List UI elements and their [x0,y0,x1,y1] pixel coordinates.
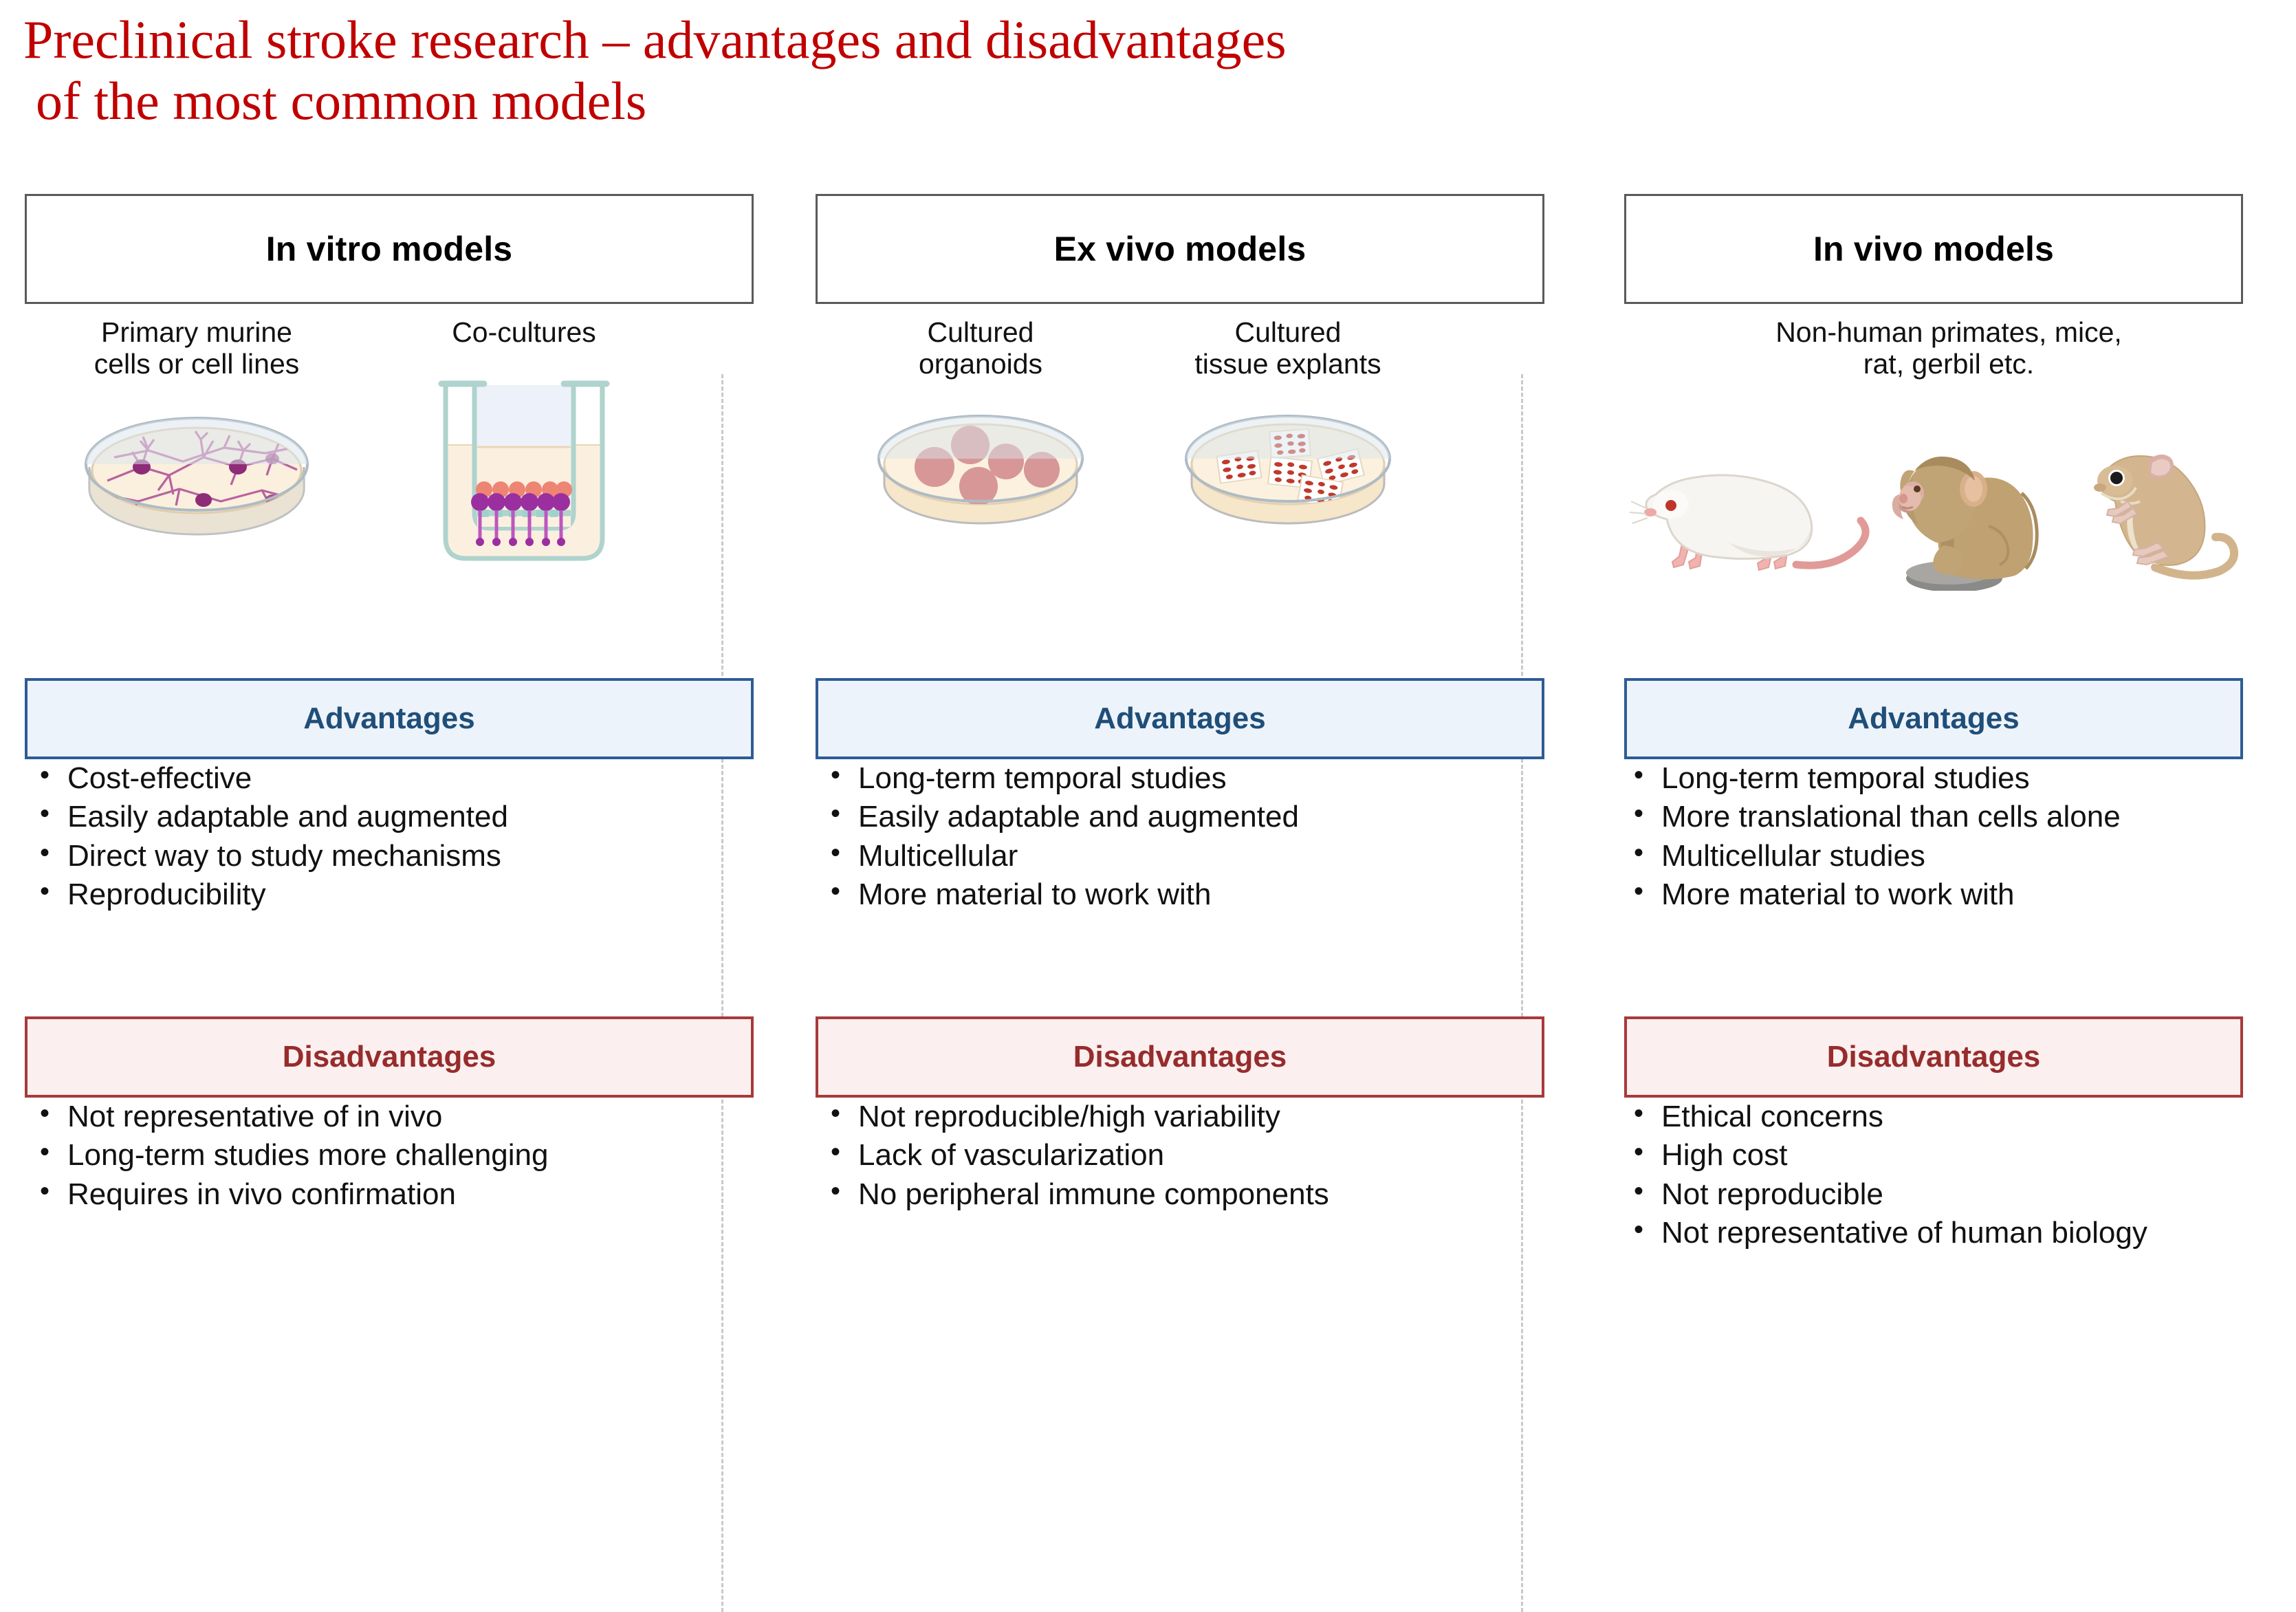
advantages-label: Advantages [1848,701,2019,736]
models-comparison-grid: In vitro models Primary murine cells or … [0,194,2296,1479]
illustration-tissue-explants: Cultured tissue explants [1126,316,1450,546]
list-item: More material to work with [1619,875,2296,914]
model-header-label: In vivo models [1813,229,2054,269]
list-item: Ethical concerns [1619,1098,2296,1136]
list-item: Multicellular studies [1619,837,2296,875]
advantages-section-in-vivo: Advantages Long-term temporal studies Mo… [1619,678,2296,914]
disadvantages-section-ex-vivo: Disadvantages Not reproducible/high vari… [816,1016,1544,1214]
transwell-coculture-icon [373,378,675,567]
petri-dish-explants-icon [1126,398,1450,546]
illustration-zone-in-vitro: Primary murine cells or cell lines [25,316,754,605]
advantages-label: Advantages [1094,701,1265,736]
illustration-caption: Cultured organoids [836,316,1125,380]
list-item: Not reproducible [1619,1175,2296,1214]
model-header-in-vivo: In vivo models [1624,194,2243,304]
list-item: Lack of vascularization [816,1136,1544,1175]
advantages-list: Long-term temporal studies Easily adapta… [816,759,1544,914]
list-item: Not representative of human biology [1619,1214,2296,1252]
list-item: More material to work with [816,875,1544,914]
gerbil-icon [2094,454,2234,575]
list-item: No peripheral immune components [816,1175,1544,1214]
list-item: Not representative of in vivo [25,1098,754,1136]
column-in-vivo: In vivo models Non-human primates, mice,… [1619,194,2296,1479]
illustration-co-cultures: Co-cultures [373,316,675,567]
model-header-ex-vivo: Ex vivo models [816,194,1544,304]
list-item: High cost [1619,1136,2296,1175]
list-item: Long-term temporal studies [816,759,1544,798]
disadvantages-header: Disadvantages [816,1016,1544,1098]
disadvantages-list: Not reproducible/high variability Lack o… [816,1098,1544,1214]
disadvantages-header: Disadvantages [25,1016,754,1098]
advantages-label: Advantages [303,701,474,736]
petri-dish-organoids-icon [836,398,1125,546]
illustration-zone-in-vivo: Non-human primates, mice, rat, gerbil et… [1619,316,2296,605]
list-item: Reproducibility [25,875,754,914]
advantages-header: Advantages [1624,678,2243,759]
page-title-line-2: of the most common models [23,71,2086,132]
list-item: Easily adaptable and augmented [816,798,1544,836]
disadvantages-label: Disadvantages [1827,1040,2041,1074]
macaque-icon [1892,457,2037,591]
model-header-label: Ex vivo models [1054,229,1306,269]
list-item: Long-term temporal studies [1619,759,2296,798]
disadvantages-header: Disadvantages [1624,1016,2243,1098]
disadvantages-list: Not representative of in vivo Long-term … [25,1098,754,1214]
mouse-icon [1630,475,1866,569]
illustration-caption: Primary murine cells or cell lines [25,316,369,380]
list-item: Requires in vivo confirmation [25,1175,754,1214]
advantages-list: Cost-effective Easily adaptable and augm… [25,759,754,914]
model-header-in-vitro: In vitro models [25,194,754,304]
page-title: Preclinical stroke research – advantages… [23,10,2086,132]
advantages-header: Advantages [816,678,1544,759]
disadvantages-label: Disadvantages [1073,1040,1287,1074]
list-item: Easily adaptable and augmented [25,798,754,836]
page-title-line-1: Preclinical stroke research – advantages… [23,10,2086,71]
list-item: Cost-effective [25,759,754,798]
illustration-primary-cells: Primary murine cells or cell lines [25,316,369,560]
list-item: Multicellular [816,837,1544,875]
disadvantages-label: Disadvantages [283,1040,496,1074]
illustration-animals: Non-human primates, mice, rat, gerbil et… [1619,316,2279,594]
list-item: More translational than cells alone [1619,798,2296,836]
list-item: Direct way to study mechanisms [25,837,754,875]
animals-mouse-monkey-gerbil-icon [1619,384,2279,594]
advantages-list: Long-term temporal studies More translat… [1619,759,2296,914]
illustration-organoids: Cultured organoids [836,316,1125,546]
list-item: Not reproducible/high variability [816,1098,1544,1136]
advantages-header: Advantages [25,678,754,759]
petri-dish-neurons-icon [25,398,369,560]
advantages-section-ex-vivo: Advantages Long-term temporal studies Ea… [816,678,1544,914]
list-item: Long-term studies more challenging [25,1136,754,1175]
illustration-caption: Co-cultures [373,316,675,348]
model-header-label: In vitro models [266,229,513,269]
disadvantages-section-in-vivo: Disadvantages Ethical concerns High cost… [1619,1016,2296,1252]
disadvantages-section-in-vitro: Disadvantages Not representative of in v… [25,1016,754,1214]
illustration-zone-ex-vivo: Cultured organoids [816,316,1544,605]
disadvantages-list: Ethical concerns High cost Not reproduci… [1619,1098,2296,1252]
column-ex-vivo: Ex vivo models Cultured organoids [816,194,1544,1479]
illustration-caption: Non-human primates, mice, rat, gerbil et… [1619,316,2279,380]
advantages-section-in-vitro: Advantages Cost-effective Easily adaptab… [25,678,754,914]
illustration-caption: Cultured tissue explants [1126,316,1450,380]
column-in-vitro: In vitro models Primary murine cells or … [25,194,754,1479]
